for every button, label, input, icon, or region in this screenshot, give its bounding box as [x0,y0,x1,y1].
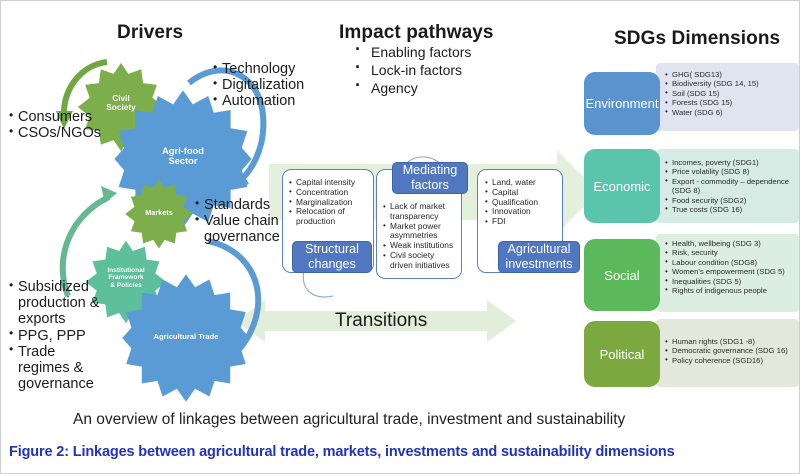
sdg-item: True costs (SDG 16) [665,205,795,214]
sdg-list: Incomes, poverty (SDG1) Price volatility… [665,158,795,214]
sdg-item: Democratic governance (SDG 16) [665,346,795,355]
impact-pathways-item: Enabling factors [349,43,539,61]
note-item: Automation [213,93,333,109]
impact-pathways-item: Lock-in factors [349,61,539,79]
sdg-tab-social[interactable]: Social [584,239,660,311]
sdg-tab-economic[interactable]: Economic [584,149,660,223]
note-item: Technology [213,61,333,77]
impact-pathways-list: Enabling factors Lock-in factors Agency [349,43,539,98]
sdg-body-environment: GHG( SDG13) Biodiversity (SDG 14, 15) So… [656,63,799,131]
pathway-item: FDI [485,217,558,227]
note-item: Subsidized production & exports [9,279,101,328]
note-item: CSOs/NGOs [9,125,113,141]
figure-subtitle: An overview of linkages between agricult… [73,411,625,429]
column-heading-impact-pathways: Impact pathways [339,22,494,44]
sdg-item: Human rights (SDG1 -8) [665,337,795,346]
impact-pathways-item: Agency [349,79,539,97]
sdg-tab-label: Social [604,268,639,283]
note-item: PPG, PPP [9,328,101,344]
sdg-body-political: Human rights (SDG1 -8) Democratic govern… [656,319,799,387]
sdg-item: Labour condition (SDG8) [665,258,795,267]
sdg-item: Forests (SDG 15) [665,98,795,107]
pathway-box-list: Land, water Capital Qualification Innova… [485,178,558,227]
sdg-item: Soil (SDG 15) [665,89,795,98]
gear-agricultural-trade: Agricultural Trade [121,273,251,403]
pathway-box-list: Lack of market transparency Market power… [383,202,457,271]
sdg-body-economic: Incomes, poverty (SDG1) Price volatility… [656,149,799,223]
sdg-item: Food security (SDG2) [665,196,795,205]
sdg-item: Policy coherence (SGD16) [665,356,795,365]
note-item: Digitalization [213,77,333,93]
sdg-list: Human rights (SDG1 -8) Democratic govern… [665,337,795,365]
pathway-item: Market power asymmetries [383,222,457,242]
pathway-item: Relocation of production [289,207,368,227]
note-subsidies-list: Subsidized production & exports PPG, PPP… [9,279,101,393]
sdg-tab-label: Environment [586,96,659,111]
tag-agricultural-investments[interactable]: Agriculturalinvestments [498,241,580,273]
sdg-tab-label: Political [600,347,645,362]
pathway-box-list: Capital intensity Concentration Marginal… [289,178,368,227]
sdg-tab-political[interactable]: Political [584,321,660,387]
sdg-item: Water (SDG 6) [665,108,795,117]
pathway-item: Civil society driven initiatives [383,251,457,271]
note-standards-list: Standards Value chain governance [195,197,291,246]
tag-label: Agriculturalinvestments [505,242,572,272]
sdg-item: GHG( SDG13) [665,70,795,79]
sdg-item: Inequalities (SDG 5) [665,277,795,286]
sdg-tab-label: Economic [593,179,650,194]
sdg-list: GHG( SDG13) Biodiversity (SDG 14, 15) So… [665,70,795,117]
column-heading-sdgs-dimensions: SDGs Dimensions [614,28,780,50]
sdg-item: Rights of indigenous people [665,286,795,295]
note-consumers-list: Consumers CSOs/NGOs [9,109,113,141]
sdg-tab-environment[interactable]: Environment [584,72,660,135]
pathway-item: Lack of market transparency [383,202,457,222]
sdg-item: Biodiversity (SDG 14, 15) [665,79,795,88]
note-technology-list: Technology Digitalization Automation [213,61,333,110]
sdg-item: Risk, security [665,248,795,257]
figure-canvas: Drivers Impact pathways SDGs Dimensions … [1,1,799,473]
tag-structural-changes[interactable]: Structuralchanges [292,241,372,273]
gear-shape-icon [121,273,251,403]
tag-label: Structuralchanges [305,242,359,272]
figure-caption: Figure 2: Linkages between agricultural … [9,444,675,460]
sdg-list: Health, wellbeing (SDG 3) Risk, security… [665,239,795,295]
note-item: Consumers [9,109,113,125]
sdg-item: Women's empowerment (SDG 5) [665,267,795,276]
sdg-item: Health, wellbeing (SDG 3) [665,239,795,248]
transitions-label: Transitions [335,310,427,332]
tag-label: Mediatingfactors [403,163,458,193]
sdg-item: Price volatility (SDG 8) [665,167,795,176]
sdg-body-social: Health, wellbeing (SDG 3) Risk, security… [656,234,799,312]
note-item: Standards [195,197,291,213]
column-heading-drivers: Drivers [117,22,183,44]
sdg-item: Incomes, poverty (SDG1) [665,158,795,167]
tag-mediating-factors[interactable]: Mediatingfactors [392,162,468,194]
note-item: Trade regimes & governance [9,344,101,393]
note-item: Value chain governance [195,213,291,245]
sdg-item: Export - commodity – dependence (SDG 8) [665,177,795,196]
